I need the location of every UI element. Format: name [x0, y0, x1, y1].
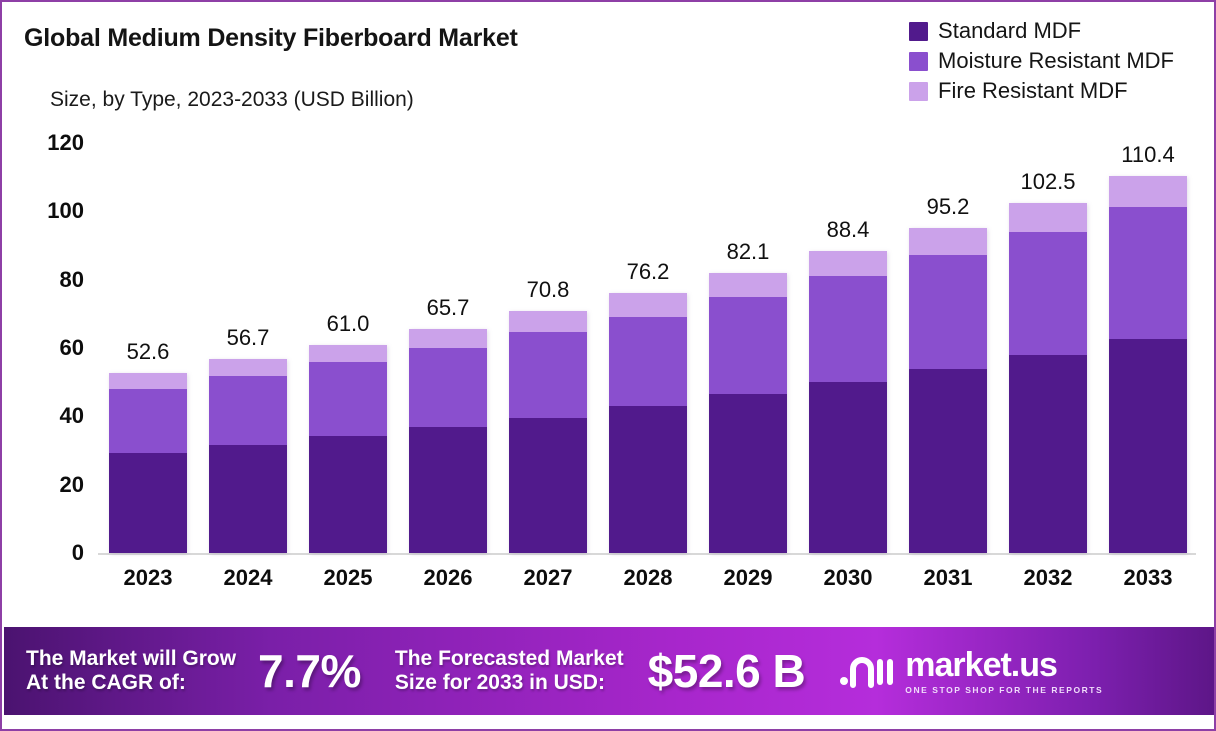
x-axis-label-2023: 2023 [124, 565, 173, 591]
bar-segment-moisture-resistant-mdf [209, 376, 287, 445]
y-axis-tick-40: 40 [2, 403, 94, 429]
bar-group-2025[interactable]: 61.0 [309, 345, 387, 553]
x-axis-label-2026: 2026 [424, 565, 473, 591]
x-axis-label-2030: 2030 [824, 565, 873, 591]
bar-segment-standard-mdf [709, 394, 787, 553]
bar-stack [709, 273, 787, 554]
bar-segment-moisture-resistant-mdf [409, 348, 487, 427]
bar-value-label-2026: 65.7 [427, 295, 470, 321]
bar-group-2030[interactable]: 88.4 [809, 251, 887, 553]
logo-tagline: ONE STOP SHOP FOR THE REPORTS [905, 685, 1103, 695]
bar-segment-fire-resistant-mdf [709, 273, 787, 298]
cagr-label: The Market will Grow At the CAGR of: [26, 647, 236, 695]
bar-stack [409, 329, 487, 553]
cagr-block: The Market will Grow At the CAGR of: 7.7… [4, 644, 361, 698]
bar-segment-fire-resistant-mdf [1009, 203, 1087, 232]
bar-segment-standard-mdf [1009, 355, 1087, 553]
bar-stack [109, 373, 187, 553]
bar-value-label-2025: 61.0 [327, 311, 370, 337]
bar-segment-standard-mdf [809, 382, 887, 553]
bar-segment-fire-resistant-mdf [609, 293, 687, 318]
y-axis-tick-20: 20 [2, 472, 94, 498]
bar-segment-moisture-resistant-mdf [609, 317, 687, 406]
bar-segment-standard-mdf [409, 427, 487, 553]
logo-text: market.us ONE STOP SHOP FOR THE REPORTS [905, 648, 1103, 695]
bar-group-2024[interactable]: 56.7 [209, 359, 287, 553]
y-axis: 020406080100120 [2, 2, 94, 622]
forecast-block: The Forecasted Market Size for 2033 in U… [361, 644, 805, 698]
bar-series-container: 52.6202356.7202461.0202565.7202670.82027… [98, 2, 1198, 622]
bar-segment-fire-resistant-mdf [209, 359, 287, 376]
bar-segment-standard-mdf [109, 453, 187, 553]
bar-segment-fire-resistant-mdf [809, 251, 887, 276]
bar-value-label-2032: 102.5 [1020, 169, 1075, 195]
x-axis-label-2024: 2024 [224, 565, 273, 591]
bar-segment-moisture-resistant-mdf [909, 255, 987, 369]
bar-segment-moisture-resistant-mdf [709, 297, 787, 394]
bar-segment-moisture-resistant-mdf [109, 389, 187, 453]
bar-group-2032[interactable]: 102.5 [1009, 203, 1087, 553]
bar-group-2028[interactable]: 76.2 [609, 293, 687, 553]
forecast-value: $52.6 B [648, 644, 806, 698]
bar-value-label-2028: 76.2 [627, 259, 670, 285]
market-us-logo[interactable]: market.us ONE STOP SHOP FOR THE REPORTS [839, 648, 1103, 695]
bar-segment-moisture-resistant-mdf [309, 362, 387, 436]
y-axis-tick-60: 60 [2, 335, 94, 361]
bar-stack [309, 345, 387, 553]
x-axis-label-2033: 2033 [1124, 565, 1173, 591]
y-axis-tick-0: 0 [2, 540, 94, 566]
bar-segment-fire-resistant-mdf [909, 228, 987, 255]
y-axis-tick-100: 100 [2, 198, 94, 224]
bar-group-2033[interactable]: 110.4 [1109, 176, 1187, 553]
bar-segment-standard-mdf [609, 406, 687, 553]
x-axis-label-2025: 2025 [324, 565, 373, 591]
bar-segment-moisture-resistant-mdf [1009, 232, 1087, 355]
bar-stack [609, 293, 687, 553]
x-axis-label-2031: 2031 [924, 565, 973, 591]
x-axis-label-2029: 2029 [724, 565, 773, 591]
bar-group-2027[interactable]: 70.8 [509, 311, 587, 553]
bar-stack [809, 251, 887, 553]
bar-group-2031[interactable]: 95.2 [909, 228, 987, 553]
bar-stack [1109, 176, 1187, 553]
forecast-label: The Forecasted Market Size for 2033 in U… [395, 647, 624, 695]
bar-segment-fire-resistant-mdf [409, 329, 487, 348]
y-axis-tick-120: 120 [2, 130, 94, 156]
logo-name: market.us [905, 648, 1103, 682]
bar-value-label-2029: 82.1 [727, 239, 770, 265]
bar-segment-standard-mdf [309, 436, 387, 553]
infographic-root: Global Medium Density Fiberboard Market … [0, 0, 1216, 731]
bar-group-2023[interactable]: 52.6 [109, 373, 187, 553]
bar-segment-fire-resistant-mdf [309, 345, 387, 362]
bar-segment-moisture-resistant-mdf [809, 276, 887, 383]
x-axis-label-2027: 2027 [524, 565, 573, 591]
bar-stack [909, 228, 987, 553]
bar-segment-standard-mdf [909, 369, 987, 553]
chart-plot-area: 020406080100120 52.6202356.7202461.02025… [2, 2, 1216, 622]
bar-value-label-2033: 110.4 [1121, 142, 1174, 168]
bar-value-label-2023: 52.6 [127, 339, 170, 365]
bar-group-2029[interactable]: 82.1 [709, 273, 787, 554]
cagr-value: 7.7% [258, 644, 361, 698]
bar-segment-fire-resistant-mdf [1109, 176, 1187, 207]
bar-segment-moisture-resistant-mdf [509, 332, 587, 418]
x-axis-label-2028: 2028 [624, 565, 673, 591]
bar-segment-standard-mdf [509, 418, 587, 553]
bar-value-label-2027: 70.8 [527, 277, 570, 303]
bar-value-label-2031: 95.2 [927, 194, 970, 220]
bar-segment-standard-mdf [1109, 339, 1187, 553]
bar-stack [509, 311, 587, 553]
bar-stack [209, 359, 287, 553]
x-axis-label-2032: 2032 [1024, 565, 1073, 591]
summary-banner: The Market will Grow At the CAGR of: 7.7… [4, 627, 1216, 715]
logo-bars-icon [839, 651, 895, 691]
bar-value-label-2024: 56.7 [227, 325, 270, 351]
y-axis-tick-80: 80 [2, 267, 94, 293]
bar-value-label-2030: 88.4 [827, 217, 870, 243]
bar-group-2026[interactable]: 65.7 [409, 329, 487, 553]
bar-segment-standard-mdf [209, 445, 287, 553]
bar-stack [1009, 203, 1087, 553]
bar-segment-moisture-resistant-mdf [1109, 207, 1187, 339]
bar-segment-fire-resistant-mdf [109, 373, 187, 389]
bar-segment-fire-resistant-mdf [509, 311, 587, 332]
